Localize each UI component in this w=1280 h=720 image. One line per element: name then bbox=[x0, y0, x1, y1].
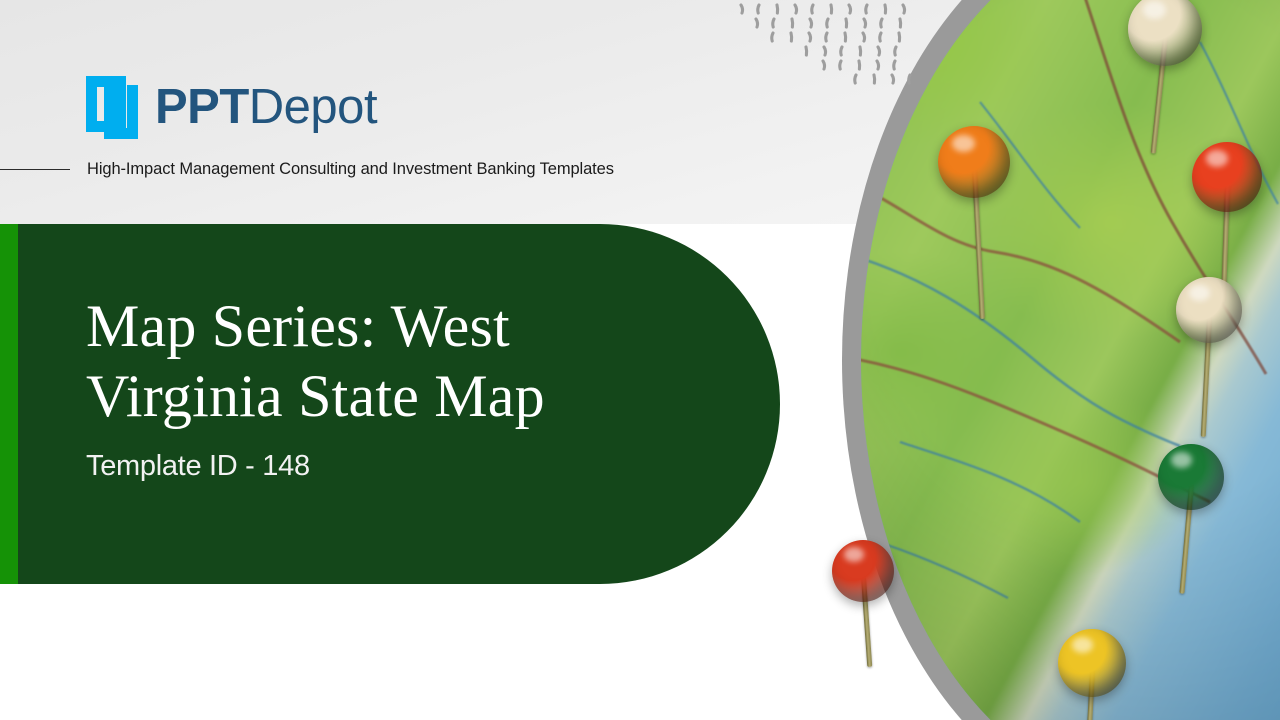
page-subtitle: Template ID - 148 bbox=[86, 450, 686, 483]
brand-tagline-row: High-Impact Management Consulting and In… bbox=[0, 160, 760, 179]
pin-cream-top bbox=[1128, 0, 1202, 66]
slide-canvas: PPTDepot High-Impact Management Consulti… bbox=[0, 0, 1280, 720]
pin-head bbox=[1058, 629, 1126, 697]
pin-yellow bbox=[1058, 629, 1126, 697]
brand-logo[interactable]: PPTDepot bbox=[86, 76, 377, 139]
brand-name-bold: PPT bbox=[155, 80, 249, 134]
pin-red-right bbox=[1192, 142, 1262, 212]
title-block: Map Series: West Virginia State Map Temp… bbox=[86, 292, 686, 483]
pptdepot-logo-icon bbox=[86, 76, 138, 139]
pin-red-edge bbox=[832, 540, 894, 602]
page-title: Map Series: West Virginia State Map bbox=[86, 292, 686, 431]
brand-wordmark: PPTDepot bbox=[155, 83, 377, 132]
tick-pattern-decoration bbox=[735, 0, 915, 85]
pin-head bbox=[1128, 0, 1202, 66]
pin-orange-left bbox=[938, 126, 1010, 198]
tagline-rule bbox=[0, 169, 70, 170]
accent-bar bbox=[0, 224, 18, 584]
pin-head bbox=[1158, 444, 1224, 510]
brand-tagline: High-Impact Management Consulting and In… bbox=[87, 160, 614, 179]
pin-green bbox=[1158, 444, 1224, 510]
pin-head bbox=[1192, 142, 1262, 212]
pin-head bbox=[938, 126, 1010, 198]
pin-head bbox=[1176, 277, 1242, 343]
brand-name-light: Depot bbox=[249, 80, 377, 134]
pin-cream-mid bbox=[1176, 277, 1242, 343]
pin-head bbox=[832, 540, 894, 602]
